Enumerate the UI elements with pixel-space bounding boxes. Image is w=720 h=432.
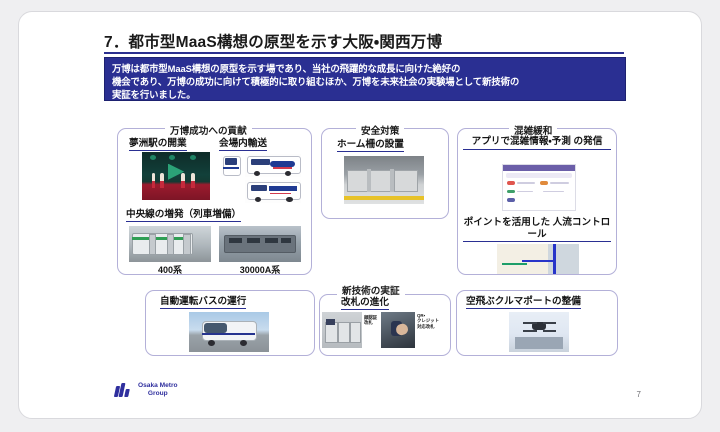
photo-autonomous-bus	[189, 312, 269, 352]
photo-qr-credit-gate	[381, 312, 415, 348]
subheading-platform-gate: ホーム柵の設置	[337, 139, 404, 152]
photo-train-400-series	[129, 226, 211, 262]
lead-line-1: 万博は都市型MaaS構想の原型を示す場であり、当社の飛躍的な成長に向けた絶好の	[112, 62, 619, 75]
osaka-metro-logo-icon	[115, 383, 133, 397]
osaka-metro-logo-text: Osaka Metro Group	[138, 382, 178, 397]
minilabel-qr-credit-gate: QR・ クレジット 対応改札	[417, 313, 439, 329]
photo-train-30000a-series	[219, 226, 301, 262]
photo-face-recognition-gate	[322, 312, 362, 348]
page-number: 7	[637, 390, 641, 399]
subheading-point-crowd-control: ポイントを活用した 人流コントロール	[463, 217, 611, 242]
lead-line-3: 実証を行いました。	[112, 88, 619, 101]
subheading-autonomous-bus: 自動運転バスの運行	[160, 296, 246, 309]
subheading-venue-transport: 会場内輸送	[219, 138, 267, 151]
photo-shuttle-bus-front	[221, 154, 241, 176]
photo-route-map	[497, 244, 579, 274]
logo-line-1: Osaka Metro	[138, 382, 178, 390]
subheading-congestion-app: アプリで混雑情報・予測 の発信	[463, 136, 611, 150]
group-title-konzatsu-kanwa: 混雑緩和	[509, 123, 557, 137]
logo-line-2: Group	[138, 390, 178, 398]
page-title: 7．都市型MaaS構想の原型を示す大阪・関西万博	[104, 30, 634, 52]
subheading-yumeshima-station: 夢洲駅の開業	[129, 138, 187, 151]
title-underline	[104, 52, 624, 54]
slide-card: 7．都市型MaaS構想の原型を示す大阪・関西万博 万博は都市型MaaS構想の原型…	[18, 11, 702, 419]
photo-yumeshima-station-opening	[142, 152, 210, 200]
photo-congestion-app-screen	[502, 164, 576, 211]
group-title-bampaku-kouken: 万博成功への貢献	[165, 123, 252, 137]
photo-shuttle-bus-side-1	[245, 154, 301, 177]
subheading-flying-car-port: 空飛ぶクルマポートの整備	[466, 296, 581, 309]
group-title-shingijutsu-jissho: 新技術の実証	[337, 283, 405, 297]
caption-train-30000a: 30000A系	[219, 263, 301, 276]
photo-shuttle-bus-side-2	[245, 180, 301, 203]
lead-line-2: 機会であり、万博の成功に向けて積極的に取り組むほか、万博を未来社会の実験場として…	[112, 75, 619, 88]
photo-platform-screen-door	[344, 156, 424, 204]
minilabel-face-recognition-gate: 顔認証 改札	[364, 315, 377, 326]
caption-train-400: 400系	[129, 263, 211, 276]
osaka-metro-logo: Osaka Metro Group	[115, 382, 178, 397]
subheading-gate-evolution: 改札の進化	[341, 297, 389, 310]
slide-content: 7．都市型MaaS構想の原型を示す大阪・関西万博 万博は都市型MaaS構想の原型…	[19, 12, 702, 419]
photo-flying-car-port	[509, 312, 569, 352]
subheading-chuo-line-increase: 中央線の増発（列車増備）	[126, 209, 241, 222]
group-title-anzen-taisaku: 安全対策	[356, 123, 404, 137]
lead-summary-box: 万博は都市型MaaS構想の原型を示す場であり、当社の飛躍的な成長に向けた絶好の …	[104, 57, 626, 101]
